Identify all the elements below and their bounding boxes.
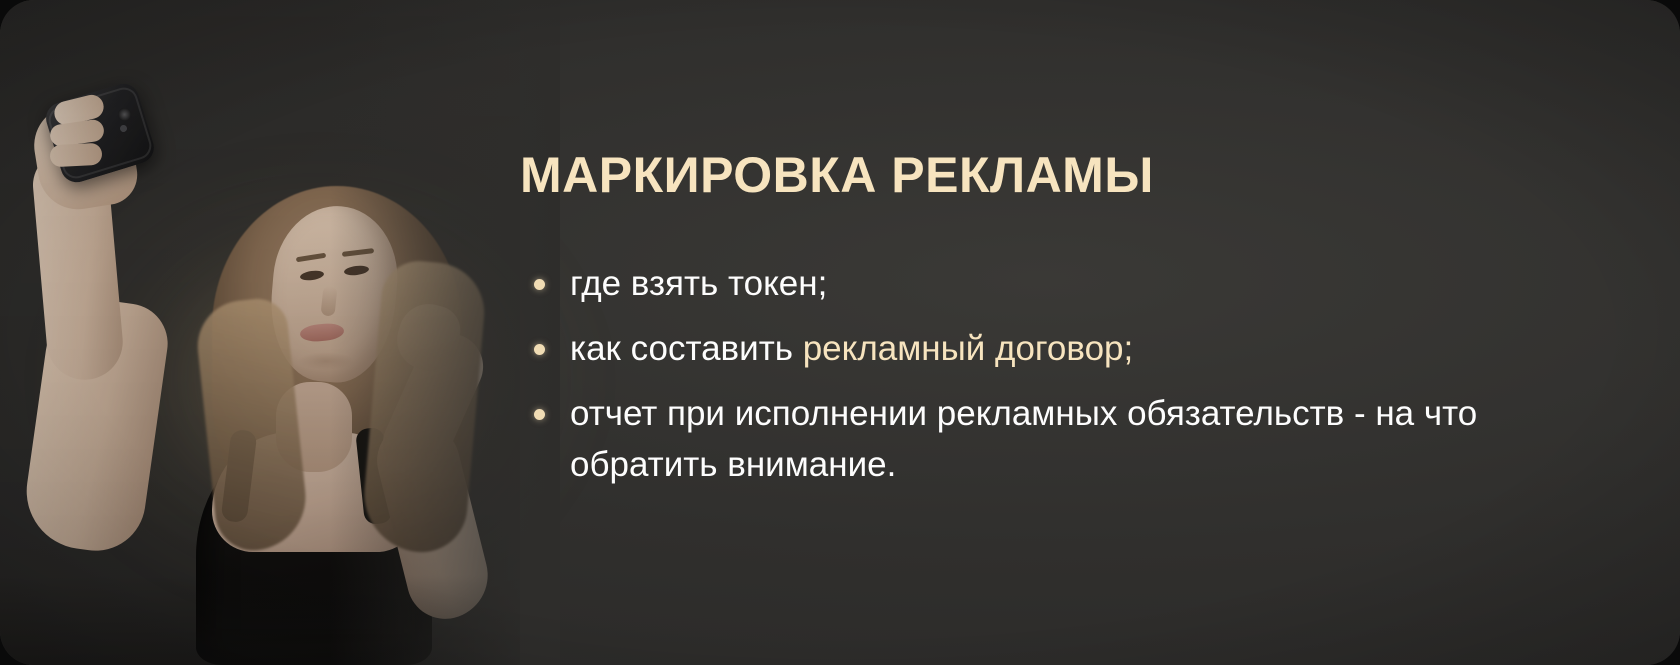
list-item-lead: отчет при исполнении рекламных обязатель…	[570, 394, 1477, 484]
list-item-highlight: рекламный договор;	[803, 329, 1134, 368]
bullet-dot-icon	[534, 409, 545, 420]
list-item: как составить рекламный договор;	[520, 323, 1600, 374]
list-item: отчет при исполнении рекламных обязатель…	[520, 388, 1600, 490]
page-title: МАРКИРОВКА РЕКЛАМЫ	[520, 146, 1580, 204]
content-column: МАРКИРОВКА РЕКЛАМЫ где взять токен; как …	[520, 0, 1680, 665]
promo-slide: МАРКИРОВКА РЕКЛАМЫ где взять токен; как …	[0, 0, 1680, 665]
bullet-dot-icon	[534, 344, 545, 355]
feature-list: где взять токен; как составить рекламный…	[520, 258, 1600, 504]
list-item: где взять токен;	[520, 258, 1600, 309]
list-item-lead: где взять токен;	[570, 264, 827, 303]
list-item-lead: как составить	[570, 329, 803, 368]
bullet-dot-icon	[534, 279, 545, 290]
